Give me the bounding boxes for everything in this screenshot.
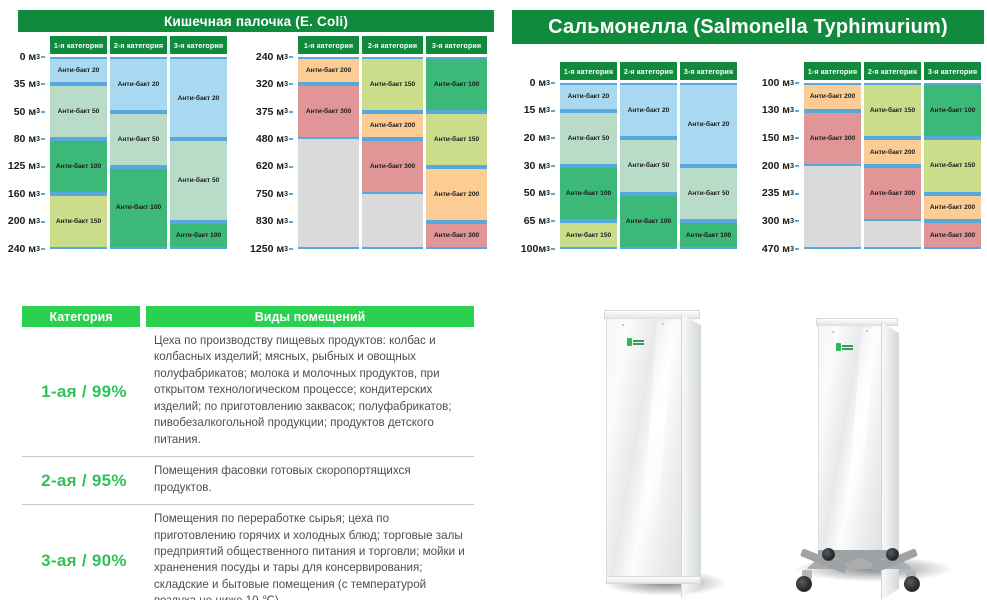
bar-segment: Анти-бакт 100 <box>426 57 487 112</box>
chart-column: 2-я категорияАнти-бакт 20Анти-бакт 50Ант… <box>620 62 677 252</box>
product-lamp-mobile-cart <box>794 318 954 600</box>
chart-columns: 1-я категорияАнти-бакт 20Анти-бакт 50Ант… <box>560 62 737 252</box>
column-stack: Анти-бакт 20Анти-бакт 50Анти-бакт 100 <box>680 83 737 252</box>
bar-segment: Анти-бакт 50 <box>170 139 227 221</box>
bar-segment: Анти-бакт 150 <box>362 57 423 112</box>
caster-wheel-rear-right[interactable] <box>886 548 899 561</box>
chart-columns: 1-я категорияАнти-бакт 200Анти-бакт 3002… <box>804 62 981 252</box>
th-category: Категория <box>22 306 140 327</box>
bar-segment: Анти-бакт 50 <box>50 84 107 139</box>
brand-logo-icon <box>836 343 853 351</box>
bar-segment: Анти-бакт 200 <box>426 167 487 222</box>
chart-column: 2-я категорияАнти-бакт 20Анти-бакт 50Ант… <box>110 36 167 252</box>
bar-segment: Анти-бакт 20 <box>680 83 737 166</box>
lamp-indicator-dot-right <box>866 330 868 332</box>
chart-title-ecoli: Кишечная палочка (E. Coli) <box>18 10 494 32</box>
lamp-front-panel <box>818 325 882 553</box>
caster-wheel-front-left[interactable] <box>796 576 812 592</box>
bar-segment: Анти-бакт 200 <box>924 194 981 222</box>
bar-segment: Анти-бакт 150 <box>426 112 487 167</box>
column-stack: Анти-бакт 200Анти-бакт 300 <box>298 57 359 252</box>
column-header: 2-я категория <box>362 36 423 54</box>
table-cell-category: 1-ая / 99% <box>22 327 146 456</box>
table-cell-description: Цеха по производству пищевых продуктов: … <box>146 327 474 456</box>
chart-column: 1-я категорияАнти-бакт 20Анти-бакт 50Ант… <box>560 62 617 252</box>
bar-segment: Анти-бакт 300 <box>426 222 487 249</box>
chart-salmonella-low: 0 м315 м320 м330 м350 м365 м3100м31-я ка… <box>512 62 742 252</box>
chart-panel-ecoli: Кишечная палочка (E. Coli) <box>18 10 494 32</box>
lamp-side-panel <box>681 314 701 598</box>
chart-salmonella-high: 100 м3130 м3150 м3200 м3235 м3300 м3470 … <box>752 62 986 252</box>
table-row: 1-ая / 99%Цеха по производству пищевых п… <box>22 327 474 457</box>
table-row: 3-ая / 90%Помещения по переработке сырья… <box>22 505 474 600</box>
category-table: Категория Виды помещений 1-ая / 99%Цеха … <box>22 306 474 600</box>
column-stack: Анти-бакт 20Анти-бакт 50Анти-бакт 100Ант… <box>50 57 107 252</box>
bar-segment: Анти-бакт 200 <box>362 112 423 139</box>
bar-segment-empty <box>298 139 359 249</box>
category-table-body: 1-ая / 99%Цеха по производству пищевых п… <box>22 327 474 600</box>
bar-segment: Анти-бакт 100 <box>170 222 227 249</box>
column-header: 1-я категория <box>298 36 359 54</box>
column-stack: Анти-бакт 200Анти-бакт 300 <box>804 83 861 252</box>
logo-mark <box>627 338 632 346</box>
lamp-indicator-dot-left <box>832 331 834 333</box>
bar-segment: Анти-бакт 150 <box>864 83 921 138</box>
column-header: 3-я категория <box>426 36 487 54</box>
chart-column: 1-я категорияАнти-бакт 200Анти-бакт 300 <box>804 62 861 252</box>
table-row: 2-ая / 95%Помещения фасовки готовых скор… <box>22 457 474 505</box>
lamp-bottom-cap <box>606 576 701 584</box>
column-stack: Анти-бакт 20Анти-бакт 50Анти-бакт 100 <box>620 83 677 252</box>
bar-segment-empty <box>864 221 921 249</box>
column-stack: Анти-бакт 20Анти-бакт 50Анти-бакт 100 <box>170 57 227 252</box>
bar-segment: Анти-бакт 50 <box>620 138 677 193</box>
bar-segment-empty <box>804 166 861 249</box>
table-cell-category: 2-ая / 95% <box>22 457 146 504</box>
column-header: 3-я категория <box>924 62 981 80</box>
bar-segment: Анти-бакт 20 <box>170 57 227 139</box>
bar-segment: Анти-бакт 150 <box>560 221 617 249</box>
lamp-front-panel <box>606 318 682 582</box>
bar-segment: Анти-бакт 200 <box>804 83 861 111</box>
bar-segment: Анти-бакт 100 <box>110 167 167 249</box>
chart-ecoli-low: 0 м335 м350 м380 м3125 м3160 м3200 м3240… <box>2 36 232 252</box>
chart-ecoli-high: 240 м3320 м3375 м3480 м3620 м3750 м3830 … <box>243 36 493 252</box>
bar-segment: Анти-бакт 20 <box>620 83 677 138</box>
chart-title-salmonella: Сальмонелла (Salmonella Typhimurium) <box>512 10 984 44</box>
chart-columns: 1-я категорияАнти-бакт 20Анти-бакт 50Ант… <box>50 36 227 252</box>
brand-logo-icon <box>627 338 644 346</box>
column-header: 2-я категория <box>110 36 167 54</box>
bar-segment: Анти-бакт 50 <box>110 112 167 167</box>
bar-segment: Анти-бакт 150 <box>50 194 107 249</box>
column-header: 2-я категория <box>864 62 921 80</box>
chart-column: 1-я категорияАнти-бакт 20Анти-бакт 50Ант… <box>50 36 107 252</box>
lamp-gloss-highlight <box>637 321 673 579</box>
bar-segment-empty <box>362 194 423 249</box>
logo-wordmark <box>842 345 853 350</box>
column-stack: Анти-бакт 100Анти-бакт 150Анти-бакт 200А… <box>426 57 487 252</box>
bar-segment: Анти-бакт 300 <box>924 221 981 249</box>
lamp-indicator-dot-right <box>662 323 664 325</box>
chart-columns: 1-я категорияАнти-бакт 200Анти-бакт 3002… <box>298 36 487 252</box>
chart-column: 3-я категорияАнти-бакт 100Анти-бакт 150А… <box>426 36 487 252</box>
lamp-indicator-dot-left <box>622 324 624 326</box>
column-header: 1-я категория <box>560 62 617 80</box>
chart-column: 1-я категорияАнти-бакт 200Анти-бакт 300 <box>298 36 359 252</box>
infographic-root: Кишечная палочка (E. Coli) 0 м335 м350 м… <box>0 0 987 600</box>
chart-column: 3-я категорияАнти-бакт 20Анти-бакт 50Ант… <box>680 62 737 252</box>
logo-wordmark <box>633 340 644 345</box>
column-header: 3-я категория <box>680 62 737 80</box>
caster-wheel-rear-left[interactable] <box>822 548 835 561</box>
bar-segment: Анти-бакт 300 <box>362 139 423 194</box>
bar-segment: Анти-бакт 200 <box>864 138 921 166</box>
bar-segment: Анти-бакт 50 <box>680 166 737 221</box>
bar-segment: Анти-бакт 20 <box>50 57 107 84</box>
chart-column: 3-я категорияАнти-бакт 100Анти-бакт 150А… <box>924 62 981 252</box>
column-stack: Анти-бакт 20Анти-бакт 50Анти-бакт 100Ант… <box>560 83 617 252</box>
bar-segment: Анти-бакт 20 <box>560 83 617 111</box>
lamp-gloss-highlight <box>843 328 875 550</box>
column-stack: Анти-бакт 150Анти-бакт 200Анти-бакт 300 <box>362 57 423 252</box>
axis-ecoli-low: 0 м335 м350 м380 м3125 м3160 м3200 м3240… <box>2 36 50 252</box>
table-cell-description: Помещения фасовки готовых скоропортящихс… <box>146 457 474 504</box>
chart-column: 2-я категорияАнти-бакт 150Анти-бакт 200А… <box>864 62 921 252</box>
column-header: 1-я категория <box>804 62 861 80</box>
axis-salm-low: 0 м315 м320 м330 м350 м365 м3100м3 <box>512 62 560 252</box>
category-table-header: Категория Виды помещений <box>22 306 474 327</box>
column-stack: Анти-бакт 20Анти-бакт 50Анти-бакт 100 <box>110 57 167 252</box>
bar-segment: Анти-бакт 100 <box>620 194 677 249</box>
bar-segment: Анти-бакт 300 <box>804 111 861 166</box>
bar-segment: Анти-бакт 300 <box>864 166 921 221</box>
column-header: 2-я категория <box>620 62 677 80</box>
table-cell-category: 3-ая / 90% <box>22 505 146 600</box>
table-cell-description: Помещения по переработке сырья; цеха по … <box>146 505 474 600</box>
chart-panel-salmonella: Сальмонелла (Salmonella Typhimurium) <box>512 10 984 44</box>
bar-segment: Анти-бакт 300 <box>298 84 359 139</box>
chart-column: 2-я категорияАнти-бакт 150Анти-бакт 200А… <box>362 36 423 252</box>
bar-segment: Анти-бакт 150 <box>924 138 981 193</box>
caster-wheel-front-right[interactable] <box>904 576 920 592</box>
product-lamp-wall-mounted <box>596 308 736 598</box>
column-header: 1-я категория <box>50 36 107 54</box>
bar-segment: Анти-бакт 100 <box>924 83 981 138</box>
chart-column: 3-я категорияАнти-бакт 20Анти-бакт 50Ант… <box>170 36 227 252</box>
th-premises: Виды помещений <box>146 306 474 327</box>
bar-segment: Анти-бакт 20 <box>110 57 167 112</box>
axis-salm-high: 100 м3130 м3150 м3200 м3235 м3300 м3470 … <box>752 62 804 252</box>
axis-ecoli-high: 240 м3320 м3375 м3480 м3620 м3750 м3830 … <box>243 36 298 252</box>
bar-segment: Анти-бакт 100 <box>50 139 107 194</box>
column-stack: Анти-бакт 100Анти-бакт 150Анти-бакт 200А… <box>924 83 981 252</box>
logo-mark <box>836 343 841 351</box>
bar-segment: Анти-бакт 100 <box>680 221 737 249</box>
column-stack: Анти-бакт 150Анти-бакт 200Анти-бакт 300 <box>864 83 921 252</box>
column-header: 3-я категория <box>170 36 227 54</box>
bar-segment: Анти-бакт 50 <box>560 111 617 166</box>
bar-segment: Анти-бакт 200 <box>298 57 359 84</box>
bar-segment: Анти-бакт 100 <box>560 166 617 221</box>
